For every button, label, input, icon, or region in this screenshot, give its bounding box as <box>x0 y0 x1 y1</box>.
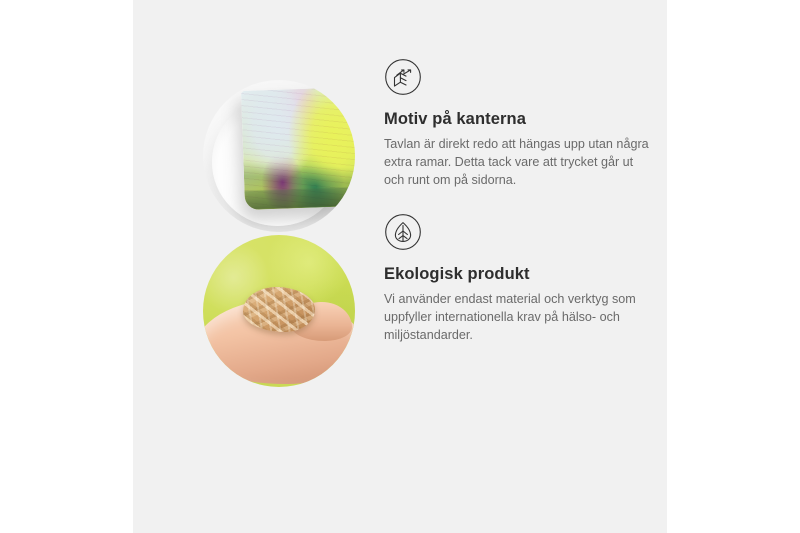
feature-description: Vi använder endast material och verktyg … <box>384 291 652 345</box>
leaf-icon <box>384 213 422 251</box>
canvas-print-corner-photo <box>203 80 355 232</box>
feature-title: Ekologisk produkt <box>384 265 659 285</box>
canvas-print-block <box>240 87 355 210</box>
canvas-side-edge <box>244 187 355 210</box>
hands-holding-wood-chips-photo <box>203 235 355 387</box>
content-panel: Motiv på kanterna Tavlan är direkt redo … <box>133 0 667 533</box>
feature-title: Motiv på kanterna <box>384 110 659 130</box>
feature-text-column: Ekologisk produkt Vi använder endast mat… <box>384 213 659 344</box>
wood-chips-pile <box>243 287 316 333</box>
feature-description: Tavlan är direkt redo att hängas upp uta… <box>384 136 652 190</box>
canvas-edge-print-icon <box>384 58 422 96</box>
infographic-canvas: Motiv på kanterna Tavlan är direkt redo … <box>0 0 800 533</box>
feature-text-column: Motiv på kanterna Tavlan är direkt redo … <box>384 58 659 189</box>
